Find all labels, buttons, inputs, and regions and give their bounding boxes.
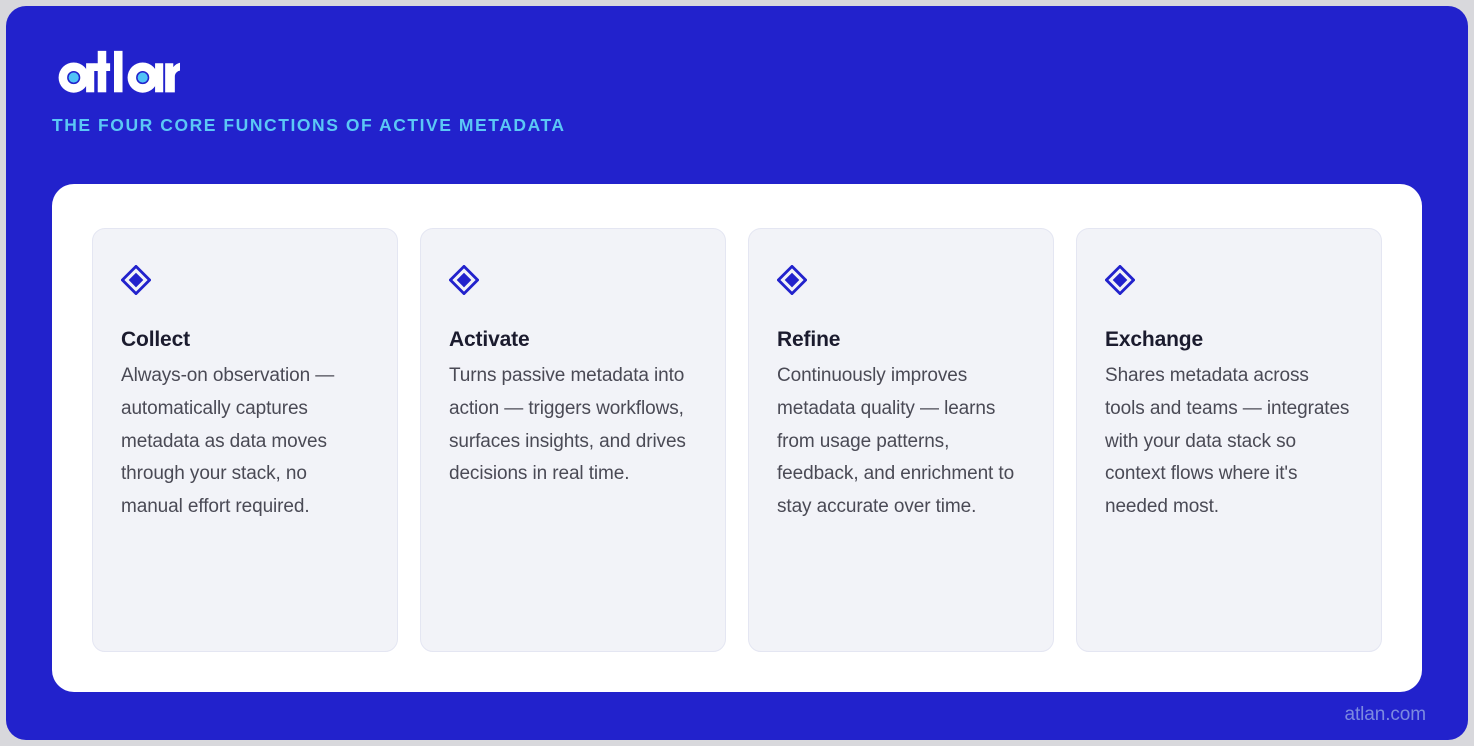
card-body: Continuously improves metadata quality —…	[777, 360, 1025, 523]
feature-card-refine[interactable]: Refine Continuously improves metadata qu…	[748, 228, 1054, 652]
header-subtitle: THE FOUR CORE FUNCTIONS OF ACTIVE METADA…	[52, 116, 952, 135]
diamond-icon	[1105, 265, 1135, 295]
feature-card-exchange[interactable]: Exchange Shares metadata across tools an…	[1076, 228, 1382, 652]
footer-url[interactable]: atlan.com	[1345, 704, 1426, 726]
card-body: Always-on observation — automatically ca…	[121, 360, 369, 523]
card-body: Shares metadata across tools and teams —…	[1105, 360, 1353, 523]
feature-cards-row: Collect Always-on observation — automati…	[92, 228, 1382, 652]
card-body: Turns passive metadata into action — tri…	[449, 360, 697, 491]
card-title: Exchange	[1105, 327, 1353, 353]
poster-panel: THE FOUR CORE FUNCTIONS OF ACTIVE METADA…	[6, 6, 1468, 740]
card-title: Activate	[449, 327, 697, 353]
atlan-logo	[52, 40, 180, 102]
header: THE FOUR CORE FUNCTIONS OF ACTIVE METADA…	[52, 40, 952, 135]
diamond-icon	[121, 265, 151, 295]
content-container: Collect Always-on observation — automati…	[52, 184, 1422, 692]
feature-card-activate[interactable]: Activate Turns passive metadata into act…	[420, 228, 726, 652]
diamond-icon	[449, 265, 479, 295]
diamond-icon	[777, 265, 807, 295]
card-title: Refine	[777, 327, 1025, 353]
feature-card-collect[interactable]: Collect Always-on observation — automati…	[92, 228, 398, 652]
card-title: Collect	[121, 327, 369, 353]
